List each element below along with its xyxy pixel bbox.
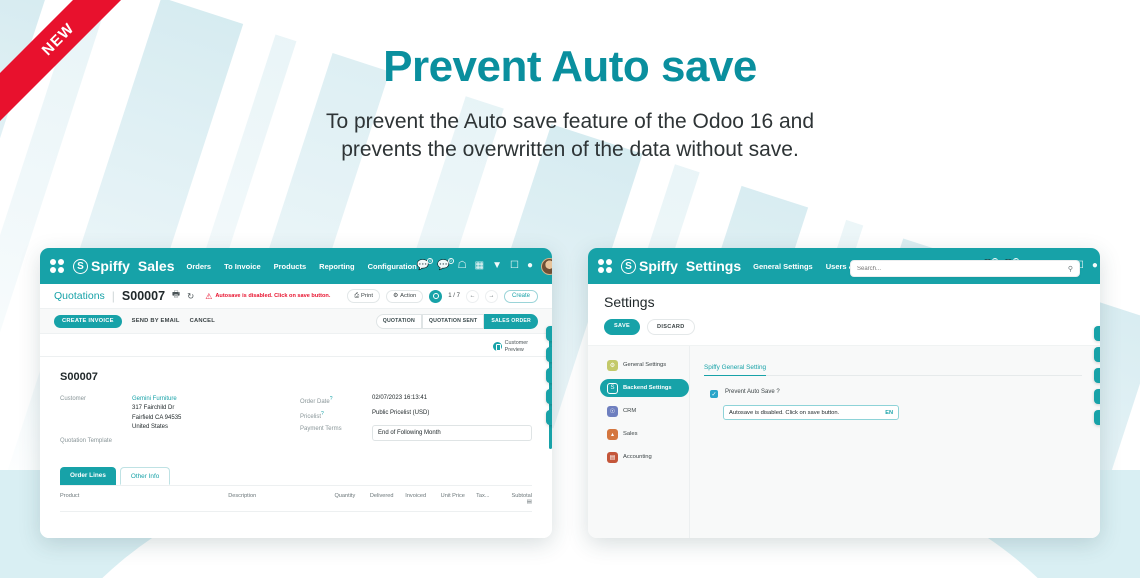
star-icon[interactable]: ★: [546, 326, 552, 341]
brand-name: Spiffy: [91, 258, 130, 274]
prevent-auto-save-checkbox[interactable]: [710, 390, 718, 398]
bookmark-icon[interactable]: ▢: [546, 410, 552, 425]
page-title: Prevent Auto save: [0, 42, 1140, 92]
gear-icon: ⚙: [607, 360, 618, 371]
sidebar-item-label: Backend Settings: [623, 385, 672, 391]
column-header-unit-price: Unit Price: [441, 493, 476, 505]
messages-icon[interactable]: 💬0: [437, 261, 449, 271]
grid-icon[interactable]: ▦: [475, 261, 484, 271]
autosave-warning: ⚠ Autosave is disabled. Click on save bu…: [205, 292, 330, 301]
globe-icon: [493, 342, 502, 351]
sidebar-item-sales[interactable]: ▴ Sales: [600, 425, 689, 443]
prevent-auto-save-label: Prevent Auto Save ?: [725, 389, 780, 395]
cancel-button[interactable]: CANCEL: [190, 318, 215, 324]
create-invoice-button[interactable]: CREATE INVOICE: [54, 315, 122, 328]
spiffy-logo-icon: [73, 259, 88, 274]
warning-triangle-icon: ⚠: [205, 292, 212, 301]
customer-preview-line-2: Preview: [505, 347, 524, 353]
save-circle-icon[interactable]: [429, 290, 442, 303]
customer-preview-line-1: Customer: [505, 340, 528, 346]
customer-name-link[interactable]: Gemini Furniture: [132, 396, 177, 402]
sales-app-screenshot: Spiffy Sales Orders To Invoice Products …: [40, 248, 552, 538]
record-sheet: Customer Preview S00007 Customer Gemini …: [40, 333, 552, 538]
field-label-payment-terms: Payment Terms: [300, 425, 372, 441]
breadcrumb-separator: |: [112, 289, 115, 303]
autosave-message-value: Autosave is disabled. Click on save butt…: [729, 410, 885, 416]
right-side-tabs: ★ ○ ╱ ⚲ ▢: [1094, 326, 1100, 425]
breadcrumb: Quotations | S00007 🖶 ↻ ⚠ Autosave is di…: [40, 284, 552, 308]
stage-pills: QUOTATION QUOTATION SENT SALES ORDER: [376, 314, 538, 329]
customer-preview-button[interactable]: Customer Preview: [493, 340, 528, 354]
column-header-subtotal: Subtotal ▤: [511, 493, 532, 505]
brand-logo[interactable]: Spiffy: [621, 258, 678, 274]
settings-search-box[interactable]: ⚲: [850, 260, 1080, 277]
action-button[interactable]: ⚙ Action: [386, 290, 423, 303]
chat-bubble-icon[interactable]: 💬0: [417, 261, 429, 271]
setting-prevent-auto-save: Prevent Auto Save ?: [704, 389, 1082, 398]
pin-icon[interactable]: ●: [1092, 261, 1098, 271]
new-ribbon-label: NEW: [38, 19, 77, 58]
funnel-icon[interactable]: ▼: [492, 261, 502, 271]
order-date-label-text: Order Date: [300, 399, 330, 405]
settings-header: Settings SAVE DISCARD ⚲: [588, 284, 1100, 335]
field-label-order-date: Order Date?: [300, 395, 372, 405]
column-settings-icon[interactable]: ▤: [527, 499, 532, 505]
print-button[interactable]: ⎙ Print: [347, 289, 380, 303]
form-column-left: Customer Gemini Furniture 317 Fairchild …: [60, 395, 284, 449]
sales-menu: Orders To Invoice Products Reporting Con…: [186, 262, 416, 271]
customer-address-line-2: Fairfield CA 94535: [132, 415, 181, 421]
pricelist-label-text: Pricelist: [300, 414, 321, 420]
apps-grid-icon[interactable]: [50, 259, 64, 273]
field-order-date: Order Date? 02/07/2023 16:13:41: [300, 395, 532, 405]
stage-quotation[interactable]: QUOTATION: [376, 314, 422, 329]
messages-badge: 0: [448, 258, 454, 264]
gear-icon: ⚙: [393, 293, 398, 299]
spiffy-logo-icon: [621, 259, 636, 274]
column-header-delivered: Delivered: [370, 493, 405, 505]
field-value-customer: Gemini Furniture 317 Fairchild Dr Fairfi…: [132, 395, 181, 432]
chat-badge: 0: [427, 258, 433, 264]
field-value-order-date[interactable]: 02/07/2023 16:13:41: [372, 395, 427, 405]
subtitle-line-1: To prevent the Auto save feature of the …: [326, 110, 814, 133]
column-header-tax: Tax...: [476, 493, 511, 505]
apps-grid-icon[interactable]: [598, 259, 612, 273]
tab-order-lines[interactable]: Order Lines: [60, 467, 116, 485]
discard-button[interactable]: DISCARD: [647, 319, 695, 335]
record-title: S00007: [60, 371, 532, 383]
sidebar-item-label: General Settings: [623, 362, 666, 368]
field-value-pricelist[interactable]: Public Pricelist (USD): [372, 410, 429, 420]
field-label-customer: Customer: [60, 395, 132, 432]
send-by-email-button[interactable]: SEND BY EMAIL: [132, 318, 180, 324]
section-tab-spiffy-general-setting[interactable]: Spiffy General Setting: [704, 364, 766, 376]
save-button[interactable]: SAVE: [604, 319, 640, 335]
star-icon[interactable]: ★: [1094, 326, 1100, 341]
printer-icon[interactable]: 🖶: [172, 289, 180, 303]
sidebar-item-label: Sales: [623, 431, 638, 437]
heading-block: Prevent Auto save To prevent the Auto sa…: [0, 42, 1140, 163]
menu-item-to-invoice[interactable]: To Invoice: [224, 262, 261, 271]
bookmark-icon[interactable]: ▢: [1094, 410, 1100, 425]
menu-item-products[interactable]: Products: [274, 262, 307, 271]
order-lines-header: Product Description Quantity Delivered I…: [60, 485, 532, 512]
print-label: Print: [361, 293, 373, 299]
printer-small-icon: ⎙: [354, 293, 359, 300]
stage-quotation-sent[interactable]: QUOTATION SENT: [422, 314, 484, 329]
avatar[interactable]: [541, 258, 552, 275]
settings-main-panel: Spiffy General Setting Prevent Auto Save…: [690, 346, 1100, 538]
search-input[interactable]: [857, 266, 1068, 272]
spiffy-icon: S: [607, 383, 618, 394]
sheet-divider: [40, 356, 552, 357]
settings-action-buttons: SAVE DISCARD: [604, 319, 1084, 335]
autosave-warning-text: Autosave is disabled. Click on save butt…: [215, 293, 330, 299]
menu-item-orders[interactable]: Orders: [186, 262, 211, 271]
field-pricelist: Pricelist? Public Pricelist (USD): [300, 410, 532, 420]
note-icon[interactable]: ☐: [510, 261, 519, 271]
customer-address-line-3: United States: [132, 424, 168, 430]
menu-item-configuration[interactable]: Configuration: [368, 262, 417, 271]
wrench-icon[interactable]: ╱: [1094, 368, 1100, 383]
search-icon[interactable]: ⚲: [546, 389, 552, 404]
breadcrumb-parent[interactable]: Quotations: [54, 290, 105, 302]
message-icon[interactable]: ○: [1094, 347, 1100, 362]
sales-icon: ▴: [607, 429, 618, 440]
accounting-icon: ▤: [607, 452, 618, 463]
field-quotation-template: Quotation Template: [60, 437, 284, 444]
search-icon[interactable]: ⚲: [1068, 265, 1073, 273]
subtitle-line-2: prevents the overwritten of the data wit…: [341, 138, 799, 161]
form-column-right: Order Date? 02/07/2023 16:13:41 Pricelis…: [300, 395, 532, 449]
page-subtitle: To prevent the Auto save feature of the …: [0, 108, 1140, 163]
sidebar-item-label: CRM: [623, 408, 636, 414]
new-ribbon: NEW: [0, 0, 130, 130]
tab-other-info[interactable]: Other Info: [120, 467, 170, 485]
sidebar-item-backend-settings[interactable]: S Backend Settings: [600, 379, 689, 397]
payment-terms-input[interactable]: End of Following Month: [372, 425, 532, 441]
field-payment-terms: Payment Terms End of Following Month: [300, 425, 532, 441]
settings-app-screenshot: Spiffy Settings General Settings Users &…: [588, 248, 1100, 538]
navbar-systray: 💬0 💬0 ☖ ▦ ▼ ☐ ●: [417, 258, 552, 275]
brand-logo[interactable]: Spiffy: [73, 258, 130, 274]
wrench-icon[interactable]: ╱: [546, 368, 552, 383]
customer-address-line-1: 317 Fairchild Dr: [132, 405, 174, 411]
field-label-pricelist: Pricelist?: [300, 410, 372, 420]
sales-navbar: Spiffy Sales Orders To Invoice Products …: [40, 248, 552, 284]
create-button[interactable]: Create: [504, 290, 538, 303]
activity-icon[interactable]: ☖: [458, 261, 467, 271]
column-header-product: Product: [60, 493, 228, 505]
form-grid: Customer Gemini Furniture 317 Fairchild …: [60, 395, 532, 449]
column-header-description: Description: [228, 493, 334, 505]
settings-sidebar: ⚙ General Settings S Backend Settings ☉ …: [588, 346, 690, 538]
record-statusbar: CREATE INVOICE SEND BY EMAIL CANCEL QUOT…: [40, 308, 552, 333]
sidebar-item-accounting[interactable]: ▤ Accounting: [600, 448, 689, 466]
menu-item-reporting[interactable]: Reporting: [319, 262, 354, 271]
stage-sales-order[interactable]: SALES ORDER: [484, 314, 538, 329]
action-label: Action: [400, 293, 416, 299]
brand-name: Spiffy: [639, 258, 678, 274]
language-badge[interactable]: EN: [885, 410, 893, 416]
sidebar-item-crm[interactable]: ☉ CRM: [600, 402, 689, 420]
notebook-tabs: Order Lines Other Info: [60, 467, 532, 485]
sidebar-item-label: Accounting: [623, 454, 652, 460]
settings-page-title: Settings: [604, 294, 1084, 310]
breadcrumb-actions: ⎙ Print ⚙ Action 1 / 7 ← → Create: [347, 289, 538, 303]
breadcrumb-current: S00007: [122, 289, 165, 303]
field-customer: Customer Gemini Furniture 317 Fairchild …: [60, 395, 284, 432]
column-header-invoiced: Invoiced: [405, 493, 440, 505]
settings-body: ⚙ General Settings S Backend Settings ☉ …: [588, 345, 1100, 538]
left-side-tabs: ★ ○ ╱ ⚲ ▢: [546, 326, 552, 425]
app-name: Sales: [138, 258, 175, 274]
autosave-message-input[interactable]: Autosave is disabled. Click on save butt…: [723, 405, 899, 420]
pin-icon[interactable]: ●: [527, 261, 533, 271]
record-pager: 1 / 7: [448, 293, 460, 299]
sidebar-item-general-settings[interactable]: ⚙ General Settings: [600, 356, 689, 374]
menu-item-general-settings[interactable]: General Settings: [753, 262, 813, 271]
arrow-left-icon[interactable]: ←: [466, 290, 479, 303]
app-name: Settings: [686, 258, 741, 274]
search-icon[interactable]: ⚲: [1094, 389, 1100, 404]
message-icon[interactable]: ○: [546, 347, 552, 362]
field-label-quotation-template: Quotation Template: [60, 437, 132, 444]
undo-icon[interactable]: ↻: [187, 291, 194, 302]
crm-icon: ☉: [607, 406, 618, 417]
column-header-quantity: Quantity: [334, 493, 369, 505]
arrow-right-icon[interactable]: →: [485, 290, 498, 303]
